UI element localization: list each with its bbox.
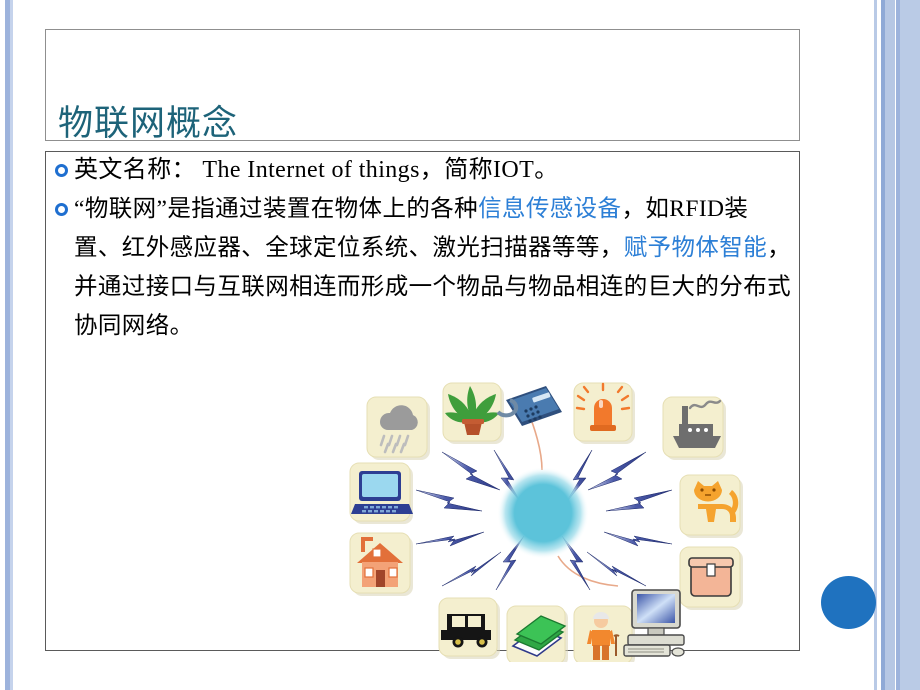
telephone-icon	[498, 386, 562, 426]
accent-circle-decoration	[821, 576, 876, 629]
iot-network-diagram	[346, 378, 750, 662]
page-title: 物联网概念	[58, 104, 238, 144]
books-icon	[507, 606, 568, 662]
right-edge-stripe-5	[900, 0, 920, 690]
bullet-ring-icon	[55, 164, 68, 177]
rain-cloud-icon	[367, 397, 430, 460]
highlighted-term: 信息传感设备	[478, 196, 621, 222]
desktop-computer-icon	[624, 590, 684, 656]
potted-plant-icon	[443, 383, 504, 444]
bullet-text: 英文名称： The Internet of things，简称IOT。	[74, 151, 796, 190]
plain-text: “物联网”是指通过装置在物体上的各种	[74, 196, 478, 222]
list-item: “物联网”是指通过装置在物体上的各种信息传感设备，如RFID装置、红外感应器、全…	[46, 190, 796, 346]
right-edge-stripe-1	[874, 0, 877, 690]
plain-text: 英文名称： The Internet of things，简称IOT。	[74, 157, 559, 183]
list-item: 英文名称： The Internet of things，简称IOT。	[46, 151, 796, 190]
house-icon	[350, 533, 413, 596]
car-icon	[439, 598, 500, 659]
slide-title-frame: 物联网概念	[45, 29, 800, 141]
package-box-icon	[680, 547, 743, 610]
left-edge-stripe-inner	[10, 0, 13, 690]
alarm-siren-icon	[574, 383, 635, 444]
bullet-text: “物联网”是指通过装置在物体上的各种信息传感设备，如RFID装置、红外感应器、全…	[74, 190, 796, 346]
bullet-list: 英文名称： The Internet of things，简称IOT。 “物联网…	[46, 151, 796, 346]
laptop-icon	[350, 463, 413, 524]
network-hub-circle	[497, 467, 589, 559]
highlighted-term: 赋予物体智能	[624, 235, 767, 261]
factory-ship-icon	[663, 397, 726, 460]
right-edge-stripe-3	[885, 0, 895, 690]
bullet-ring-icon	[55, 203, 68, 216]
cat-icon	[680, 475, 743, 538]
slide: 物联网概念 英文名称： The Internet of things，简称IOT…	[0, 0, 920, 690]
